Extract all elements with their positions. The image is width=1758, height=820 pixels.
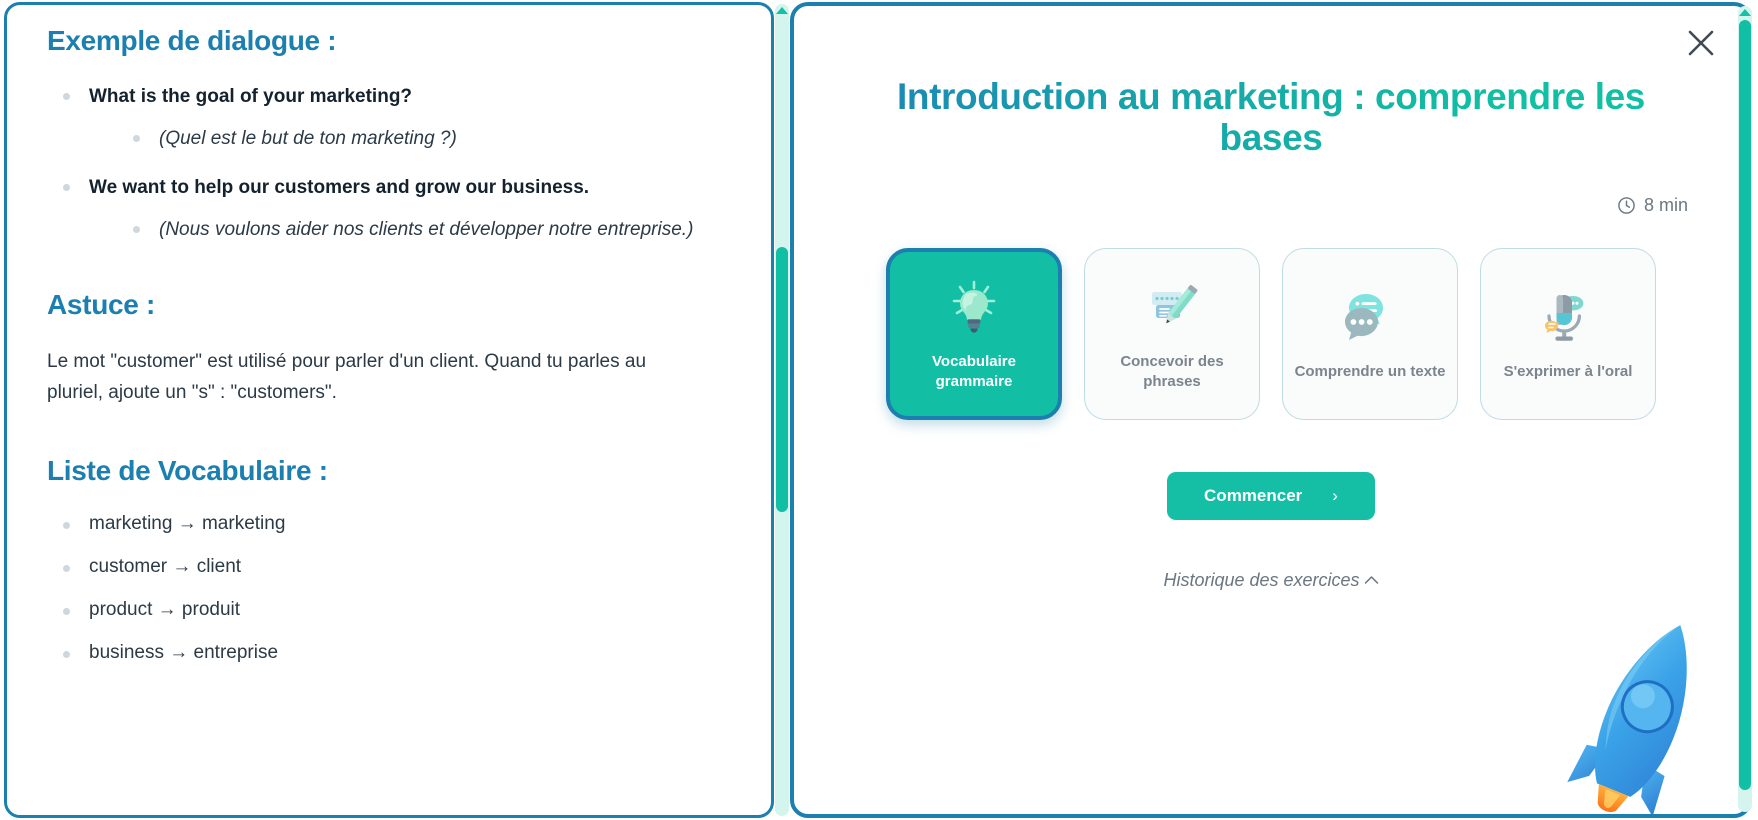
microphone-icon bbox=[1539, 286, 1597, 348]
left-panel-scrollbar[interactable] bbox=[775, 4, 789, 816]
skill-card-comprendre-un-texte[interactable]: Comprendre un texte bbox=[1282, 248, 1458, 420]
vocabulary-entry: customer → client bbox=[89, 556, 241, 577]
exercise-history-toggle[interactable]: Historique des exercices bbox=[1163, 570, 1378, 591]
scroll-up-arrow-icon[interactable] bbox=[776, 7, 788, 14]
chevron-up-icon bbox=[1364, 570, 1379, 591]
lightbulb-icon bbox=[949, 276, 999, 338]
dialogue-english: What is the goal of your marketing? bbox=[89, 83, 731, 111]
page-title: Introduction au marketing : comprendre l… bbox=[876, 76, 1666, 159]
dialogue-translation-item: (Quel est le but de ton marketing ?) bbox=[131, 125, 731, 153]
dialogue-french: (Quel est le but de ton marketing ?) bbox=[159, 128, 457, 149]
skill-card-label: Concevoir des phrases bbox=[1095, 352, 1249, 392]
scroll-up-arrow-icon[interactable] bbox=[1739, 9, 1751, 16]
speech-bubbles-icon bbox=[1341, 286, 1399, 348]
dialogue-translation-list: (Quel est le but de ton marketing ?) bbox=[131, 125, 731, 153]
close-icon[interactable] bbox=[1680, 22, 1722, 64]
skill-card-s-exprimer-a-l-oral[interactable]: S'exprimer à l'oral bbox=[1480, 248, 1656, 420]
vocabulary-entry: business → entreprise bbox=[89, 642, 278, 663]
dialogue-item: We want to help our customers and grow o… bbox=[61, 174, 731, 243]
dialogue-french: (Nous voulons aider nos clients et dével… bbox=[159, 219, 693, 240]
section-heading-dialogue: Exemple de dialogue : bbox=[47, 25, 731, 57]
list-item: customer → client bbox=[61, 556, 731, 578]
vocabulary-entry: marketing → marketing bbox=[89, 513, 285, 534]
skill-card-label: Vocabulaire grammaire bbox=[900, 352, 1048, 392]
history-link-label: Historique des exercices bbox=[1163, 570, 1359, 591]
rocket-illustration bbox=[1554, 610, 1734, 818]
vocabulary-list: marketing → marketing customer → client … bbox=[61, 513, 731, 664]
start-button[interactable]: Commencer › bbox=[1167, 472, 1375, 520]
duration-badge: 8 min bbox=[794, 195, 1688, 216]
exercise-modal-panel: Introduction au marketing : comprendre l… bbox=[790, 2, 1752, 818]
history-link-container: Historique des exercices bbox=[886, 570, 1656, 591]
list-item: product → produit bbox=[61, 599, 731, 621]
dialogue-translation-item: (Nous voulons aider nos clients et dével… bbox=[131, 216, 731, 244]
skill-card-label: Comprendre un texte bbox=[1295, 362, 1446, 382]
start-button-container: Commencer › bbox=[886, 472, 1656, 520]
clock-icon bbox=[1617, 196, 1636, 215]
astuce-body: Le mot "customer" est utilisé pour parle… bbox=[47, 347, 667, 409]
chevron-right-icon: › bbox=[1332, 486, 1338, 506]
start-button-label: Commencer bbox=[1204, 486, 1302, 506]
dialogue-translation-list: (Nous voulons aider nos clients et dével… bbox=[131, 216, 731, 244]
section-heading-vocabulaire: Liste de Vocabulaire : bbox=[47, 455, 731, 487]
lesson-content-panel: Exemple de dialogue : What is the goal o… bbox=[4, 2, 774, 818]
skill-card-label: S'exprimer à l'oral bbox=[1504, 362, 1633, 382]
skill-card-list: Vocabulaire grammaire bbox=[886, 248, 1656, 420]
dialogue-list: What is the goal of your marketing? (Que… bbox=[61, 83, 731, 243]
list-item: marketing → marketing bbox=[61, 513, 731, 535]
dialogue-english: We want to help our customers and grow o… bbox=[89, 174, 731, 202]
skill-card-vocabulaire-grammaire[interactable]: Vocabulaire grammaire bbox=[886, 248, 1062, 420]
scrollbar-thumb[interactable] bbox=[776, 247, 788, 512]
scrollbar-thumb[interactable] bbox=[1739, 20, 1751, 790]
dialogue-item: What is the goal of your marketing? (Que… bbox=[61, 83, 731, 152]
duration-label: 8 min bbox=[1644, 195, 1688, 216]
lesson-scroll-area[interactable]: Exemple de dialogue : What is the goal o… bbox=[7, 5, 771, 815]
vocabulary-entry: product → produit bbox=[89, 599, 240, 620]
section-heading-astuce: Astuce : bbox=[47, 289, 731, 321]
screen-root: Exemple de dialogue : What is the goal o… bbox=[0, 0, 1758, 820]
pencil-writing-icon bbox=[1144, 276, 1200, 338]
list-item: business → entreprise bbox=[61, 642, 731, 664]
skill-card-concevoir-des-phrases[interactable]: Concevoir des phrases bbox=[1084, 248, 1260, 420]
right-panel-scrollbar[interactable] bbox=[1738, 6, 1752, 812]
